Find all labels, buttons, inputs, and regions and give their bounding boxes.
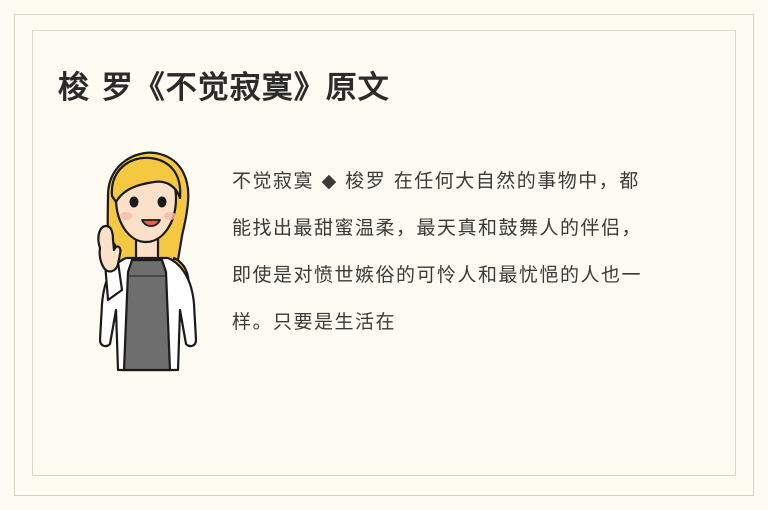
document-page: 梭 罗《不觉寂寞》原文 [0,0,768,510]
diamond-separator-icon: ◆ [322,170,338,192]
article-body-text: 在任何大自然的事物中，都能找出最甜蜜温柔，最天真和鼓舞人的伴侣，即使是对愤世嫉俗… [232,170,642,333]
cartoon-girl-pointing-up-icon [78,140,218,380]
article-author: 梭罗 [345,170,386,192]
article-body: 不觉寂寞 ◆ 梭罗 在任何大自然的事物中，都能找出最甜蜜温柔，最天真和鼓舞人的伴… [232,158,650,346]
page-title: 梭 罗《不觉寂寞》原文 [58,62,390,107]
article-heading: 不觉寂寞 [232,170,314,192]
